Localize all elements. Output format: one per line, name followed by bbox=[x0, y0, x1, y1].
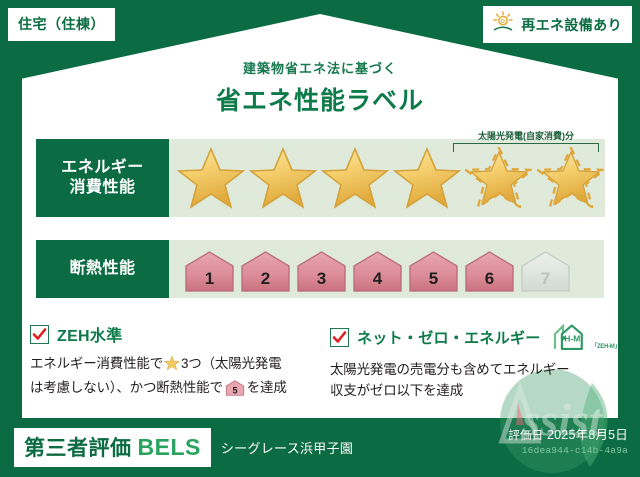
star-solar-6 bbox=[537, 145, 605, 211]
net-zero-criteria-header: ネット・ゼロ・エネルギー H-M 「ZEH-M」 bbox=[330, 322, 620, 352]
insulation-performance-row: 断熱性能 1 2 bbox=[36, 240, 604, 298]
zeh-body-middle: は考慮しない）、かつ断熱性能で bbox=[30, 380, 223, 395]
evaluation-date: 評価日 2025年8月5日 bbox=[508, 424, 628, 443]
evaluation-date-value: 2025年8月5日 bbox=[547, 428, 628, 442]
sun-icon: D bbox=[491, 11, 515, 38]
zeh-criteria-body: エネルギー消費性能で 3つ（太陽光発電 は考慮しない）、かつ断熱性能で 5 を達… bbox=[30, 354, 320, 399]
zeh-criteria-block: ZEH水準 エネルギー消費性能で 3つ（太陽光発電 は考慮しない）、かつ断熱性能… bbox=[30, 322, 320, 399]
star-filled-1 bbox=[177, 145, 245, 211]
zeh-m-logo: H-M 「ZEH-M」 bbox=[551, 322, 620, 352]
insulation-level-3-number: 3 bbox=[295, 269, 348, 289]
inline-star-icon bbox=[164, 355, 180, 378]
insulation-level-6-number: 6 bbox=[463, 269, 516, 289]
zeh-body-suffix: を達成 bbox=[247, 380, 287, 395]
energy-performance-row: エネルギー 消費性能 bbox=[36, 139, 604, 217]
insulation-level-1: 1 bbox=[183, 250, 236, 293]
energy-label-line2: 消費性能 bbox=[69, 178, 135, 198]
zeh-body-star-count: 3つ（太陽光発電 bbox=[181, 356, 281, 371]
insulation-level-4: 4 bbox=[351, 250, 404, 293]
building-name: シーグレース浜甲子園 bbox=[221, 438, 353, 457]
svg-text:5: 5 bbox=[232, 385, 237, 395]
insulation-level-2-number: 2 bbox=[239, 269, 292, 289]
net-zero-criteria-block: ネット・ゼロ・エネルギー H-M 「ZEH-M」 太陽光発電の売電分も含めてエネ… bbox=[330, 322, 620, 402]
page-title: 省エネ性能ラベル bbox=[0, 81, 640, 117]
insulation-level-4-number: 4 bbox=[351, 269, 404, 289]
insulation-level-7: 7 bbox=[519, 250, 572, 293]
insulation-levels-area: 1 2 3 4 5 bbox=[169, 240, 604, 298]
zeh-m-logo-caption: 「ZEH-M」 bbox=[591, 341, 620, 350]
net-zero-criteria-body: 太陽光発電の売電分も含めてエネルギー 収支がゼロ以下を達成 bbox=[330, 360, 620, 402]
energy-stars-area: 太陽光発電(自家消費)分 bbox=[169, 139, 605, 217]
insulation-level-scale: 1 2 3 4 5 bbox=[169, 240, 572, 298]
evaluation-date-label: 評価日 bbox=[508, 430, 543, 442]
star-rating bbox=[169, 145, 605, 211]
net-zero-check-icon bbox=[330, 328, 349, 347]
document-code: 16dea944-c14b-4a9a bbox=[508, 445, 628, 456]
svg-text:D: D bbox=[501, 19, 505, 25]
energy-label-line1: エネルギー bbox=[61, 158, 144, 178]
renewable-energy-badge: D 再エネ設備あり bbox=[483, 6, 632, 43]
star-filled-3 bbox=[321, 145, 389, 211]
renewable-badge-label: 再エネ設備あり bbox=[521, 15, 622, 35]
insulation-level-3: 3 bbox=[295, 250, 348, 293]
net-zero-body-line2: 収支がゼロ以下を達成 bbox=[330, 381, 620, 402]
star-solar-5 bbox=[465, 145, 533, 211]
net-zero-body-line1: 太陽光発電の売電分も含めてエネルギー bbox=[330, 360, 620, 381]
zeh-criteria-header: ZEH水準 bbox=[30, 322, 320, 346]
star-filled-2 bbox=[249, 145, 317, 211]
insulation-level-5: 5 bbox=[407, 250, 460, 293]
bels-tag: 第三者評価 BELS bbox=[14, 428, 211, 467]
energy-performance-label-cell: エネルギー 消費性能 bbox=[36, 139, 169, 217]
insulation-level-2: 2 bbox=[239, 250, 292, 293]
insulation-level-5-number: 5 bbox=[407, 269, 460, 289]
footer-right: 評価日 2025年8月5日 16dea944-c14b-4a9a bbox=[508, 424, 628, 456]
energy-performance-label: 住宅（住棟） D 再エネ設備あり 建築物省エネ法に基づく 省エネ性能ラベル bbox=[0, 0, 640, 477]
third-party-label: 第三者評価 bbox=[24, 432, 132, 462]
star-filled-4 bbox=[393, 145, 461, 211]
insulation-level-1-number: 1 bbox=[183, 269, 236, 289]
zeh-body-prefix: エネルギー消費性能で bbox=[30, 356, 163, 371]
zeh-check-icon bbox=[30, 325, 49, 344]
net-zero-criteria-title: ネット・ゼロ・エネルギー bbox=[357, 327, 541, 348]
insulation-level-6: 6 bbox=[463, 250, 516, 293]
insulation-performance-label-cell: 断熱性能 bbox=[36, 240, 169, 298]
title-block: 建築物省エネ法に基づく 省エネ性能ラベル bbox=[0, 58, 640, 117]
inline-house-icon: 5 bbox=[225, 380, 245, 396]
svg-text:H-M: H-M bbox=[564, 333, 580, 343]
footer-bar: 第三者評価 BELS シーグレース浜甲子園 評価日 2025年8月5日 16de… bbox=[0, 418, 640, 477]
insulation-level-7-number: 7 bbox=[519, 269, 572, 289]
zeh-criteria-title: ZEH水準 bbox=[57, 322, 123, 346]
house-type-tag: 住宅（住棟） bbox=[8, 8, 115, 41]
insulation-label: 断熱性能 bbox=[69, 259, 135, 279]
bels-logo-text: BELS bbox=[138, 434, 201, 461]
label-subtitle: 建築物省エネ法に基づく bbox=[0, 58, 640, 77]
